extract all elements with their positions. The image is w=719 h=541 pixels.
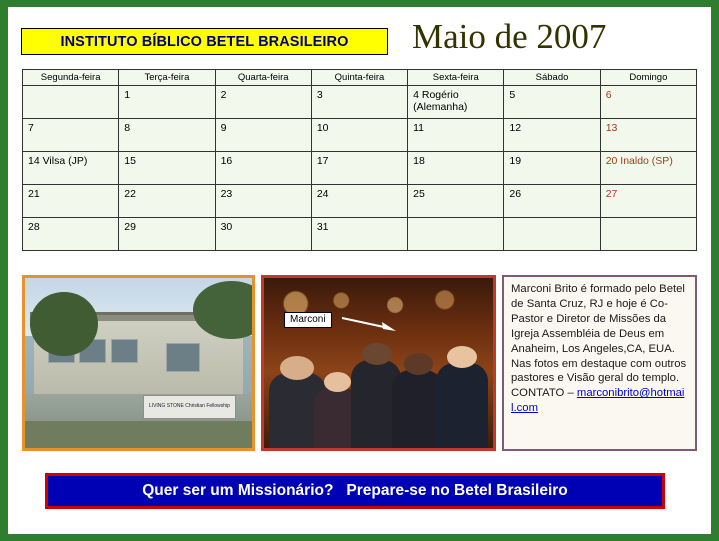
description-text: Marconi Brito é formado pelo Betel de Sa… <box>511 283 686 399</box>
slide-header: INSTITUTO BÍBLICO BETEL BRASILEIRO Maio … <box>8 17 711 63</box>
day-cell: 2 <box>215 86 311 119</box>
marconi-label-text: Marconi <box>290 314 326 325</box>
table-row: 28 29 30 31 <box>23 218 697 251</box>
day-cell <box>408 218 504 251</box>
institute-title-box: INSTITUTO BÍBLICO BETEL BRASILEIRO <box>21 28 388 55</box>
day-cell-event: 4 Rogério (Alemanha) <box>408 86 504 119</box>
day-cell: 21 <box>23 185 119 218</box>
table-row: 14 Vilsa (JP) 15 16 17 18 19 20 Inaldo (… <box>23 152 697 185</box>
day-cell-sunday-event: 20 Inaldo (SP) <box>600 152 696 185</box>
day-cell: 15 <box>119 152 215 185</box>
weekday-header-wednesday: Quarta-feira <box>215 70 311 86</box>
day-cell: 10 <box>311 119 407 152</box>
day-cell: 16 <box>215 152 311 185</box>
day-cell: 9 <box>215 119 311 152</box>
day-cell: 31 <box>311 218 407 251</box>
calendar-table: Segunda-feira Terça-feira Quarta-feira Q… <box>22 69 697 251</box>
photo-person-head <box>362 343 392 365</box>
day-cell-note: (Alemanha) <box>413 101 498 113</box>
day-cell: 29 <box>119 218 215 251</box>
day-cell: 5 <box>504 86 600 119</box>
weekday-header-friday: Sexta-feira <box>408 70 504 86</box>
table-row: 7 8 9 10 11 12 13 <box>23 119 697 152</box>
table-header-row: Segunda-feira Terça-feira Quarta-feira Q… <box>23 70 697 86</box>
building-sign: LIVING STONE Christian Fellowship <box>143 395 236 419</box>
day-cell: 22 <box>119 185 215 218</box>
call-to-action-banner: Quer ser um Missionário? Prepare-se no B… <box>45 473 665 509</box>
day-cell: 17 <box>311 152 407 185</box>
day-cell: 11 <box>408 119 504 152</box>
day-cell: 18 <box>408 152 504 185</box>
photo-tree <box>30 292 98 357</box>
day-cell-event: 14 Vilsa (JP) <box>23 152 119 185</box>
marconi-callout-label: Marconi <box>284 312 332 328</box>
slide-content: INSTITUTO BÍBLICO BETEL BRASILEIRO Maio … <box>8 7 711 534</box>
callout-arrow-icon <box>342 315 396 331</box>
day-cell: 26 <box>504 185 600 218</box>
day-cell: 19 <box>504 152 600 185</box>
day-cell: 1 <box>119 86 215 119</box>
day-cell: 8 <box>119 119 215 152</box>
day-cell-sunday <box>600 218 696 251</box>
month-title: Maio de 2007 <box>412 17 692 57</box>
institute-title: INSTITUTO BÍBLICO BETEL BRASILEIRO <box>60 34 348 50</box>
church-building-photo: LIVING STONE Christian Fellowship <box>22 275 255 451</box>
calendar-header-row: Segunda-feira Terça-feira Quarta-feira Q… <box>23 70 697 86</box>
day-cell: 30 <box>215 218 311 251</box>
day-cell <box>23 86 119 119</box>
day-cell-sunday: 13 <box>600 119 696 152</box>
weekday-header-sunday: Domingo <box>600 70 696 86</box>
day-cell <box>504 218 600 251</box>
weekday-header-monday: Segunda-feira <box>23 70 119 86</box>
day-cell-sunday: 6 <box>600 86 696 119</box>
table-row: 1 2 3 4 Rogério (Alemanha) 5 6 <box>23 86 697 119</box>
day-cell-sunday: 27 <box>600 185 696 218</box>
photo-lawn <box>25 421 252 448</box>
day-cell: 3 <box>311 86 407 119</box>
weekday-header-thursday: Quinta-feira <box>311 70 407 86</box>
photo-person-head <box>447 346 477 368</box>
table-row: 21 22 23 24 25 26 27 <box>23 185 697 218</box>
photo-person-head <box>404 353 434 375</box>
day-cell: 12 <box>504 119 600 152</box>
day-cell: 23 <box>215 185 311 218</box>
photo-window <box>111 339 138 363</box>
slide-canvas: INSTITUTO BÍBLICO BETEL BRASILEIRO Maio … <box>0 0 719 541</box>
photo-door <box>166 343 200 372</box>
building-sign-text: LIVING STONE Christian Fellowship <box>149 404 230 410</box>
day-cell: 28 <box>23 218 119 251</box>
pastors-group-photo: Marconi <box>261 275 496 451</box>
day-cell: 24 <box>311 185 407 218</box>
weekday-header-tuesday: Terça-feira <box>119 70 215 86</box>
day-cell: 25 <box>408 185 504 218</box>
weekday-header-saturday: Sábado <box>504 70 600 86</box>
banner-text: Quer ser um Missionário? Prepare-se no B… <box>142 482 568 500</box>
day-cell-number: 4 Rogério <box>413 89 459 101</box>
description-textbox: Marconi Brito é formado pelo Betel de Sa… <box>502 275 697 451</box>
calendar-body: 1 2 3 4 Rogério (Alemanha) 5 6 7 8 9 10 … <box>23 86 697 251</box>
photo-person-head <box>324 372 351 392</box>
day-cell: 7 <box>23 119 119 152</box>
photo-person <box>436 363 489 448</box>
